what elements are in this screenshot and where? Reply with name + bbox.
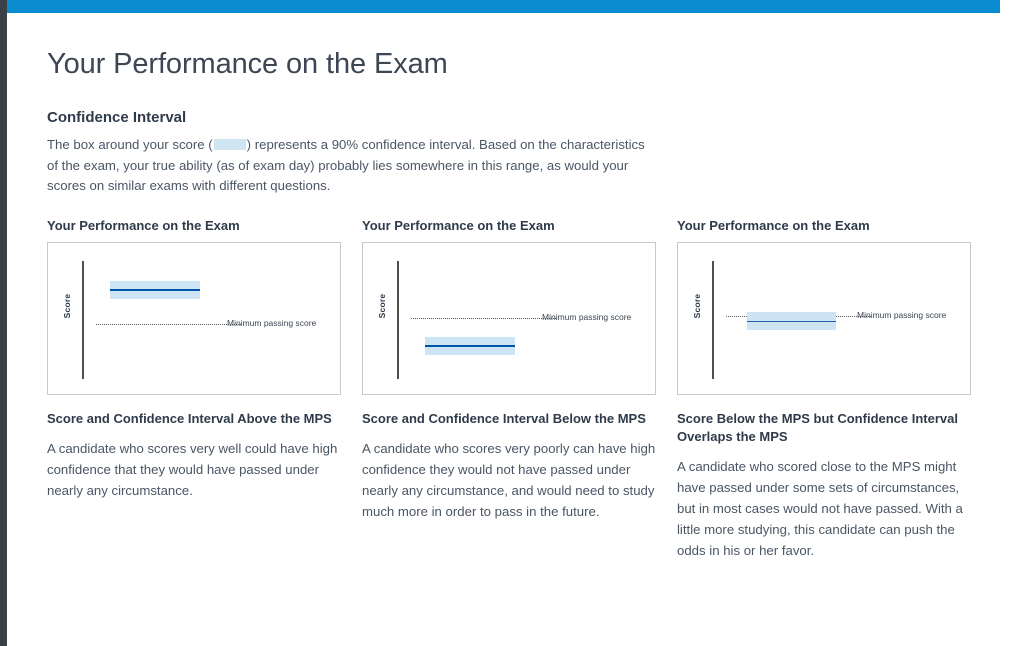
scenario-column-above-mps: Your Performance on the Exam Score Minim… bbox=[47, 218, 341, 561]
left-edge-strip bbox=[0, 0, 7, 646]
caption-body: A candidate who scored close to the MPS … bbox=[677, 456, 971, 561]
minimum-passing-score-line bbox=[96, 324, 241, 325]
y-axis-line bbox=[397, 261, 399, 379]
score-line bbox=[425, 345, 515, 347]
scenario-columns: Your Performance on the Exam Score Minim… bbox=[47, 218, 1007, 561]
confidence-interval-swatch bbox=[214, 139, 246, 150]
chart-panel-below-mps: Score Minimum passing score bbox=[362, 242, 656, 395]
y-axis-line bbox=[82, 261, 84, 379]
scenario-column-below-mps: Your Performance on the Exam Score Minim… bbox=[362, 218, 656, 561]
caption-body: A candidate who scores very poorly can h… bbox=[362, 438, 656, 522]
score-line bbox=[110, 289, 200, 291]
chart-title: Your Performance on the Exam bbox=[362, 218, 656, 233]
minimum-passing-score-line bbox=[411, 318, 556, 319]
intro-text-before-swatch: The box around your score ( bbox=[47, 137, 213, 152]
page-title: Your Performance on the Exam bbox=[47, 48, 1007, 81]
scenario-column-overlaps-mps: Your Performance on the Exam Score Minim… bbox=[677, 218, 971, 561]
minimum-passing-score-label: Minimum passing score bbox=[542, 312, 631, 322]
top-accent-bar bbox=[0, 0, 1000, 13]
minimum-passing-score-label: Minimum passing score bbox=[227, 318, 316, 328]
section-heading-confidence-interval: Confidence Interval bbox=[47, 109, 1007, 126]
caption-title: Score Below the MPS but Confidence Inter… bbox=[677, 410, 971, 446]
y-axis-label: Score bbox=[62, 283, 72, 329]
y-axis-label: Score bbox=[692, 283, 702, 329]
caption-body: A candidate who scores very well could h… bbox=[47, 438, 341, 501]
caption-title: Score and Confidence Interval Below the … bbox=[362, 410, 656, 428]
chart-title: Your Performance on the Exam bbox=[677, 218, 971, 233]
caption-title: Score and Confidence Interval Above the … bbox=[47, 410, 341, 428]
y-axis-label: Score bbox=[377, 283, 387, 329]
page-content: Your Performance on the Exam Confidence … bbox=[47, 13, 1007, 561]
y-axis-line bbox=[712, 261, 714, 379]
intro-paragraph: The box around your score () represents … bbox=[47, 135, 647, 197]
chart-title: Your Performance on the Exam bbox=[47, 218, 341, 233]
chart-panel-overlaps-mps: Score Minimum passing score bbox=[677, 242, 971, 395]
score-line bbox=[747, 321, 836, 322]
chart-panel-above-mps: Score Minimum passing score bbox=[47, 242, 341, 395]
minimum-passing-score-label: Minimum passing score bbox=[857, 310, 946, 320]
